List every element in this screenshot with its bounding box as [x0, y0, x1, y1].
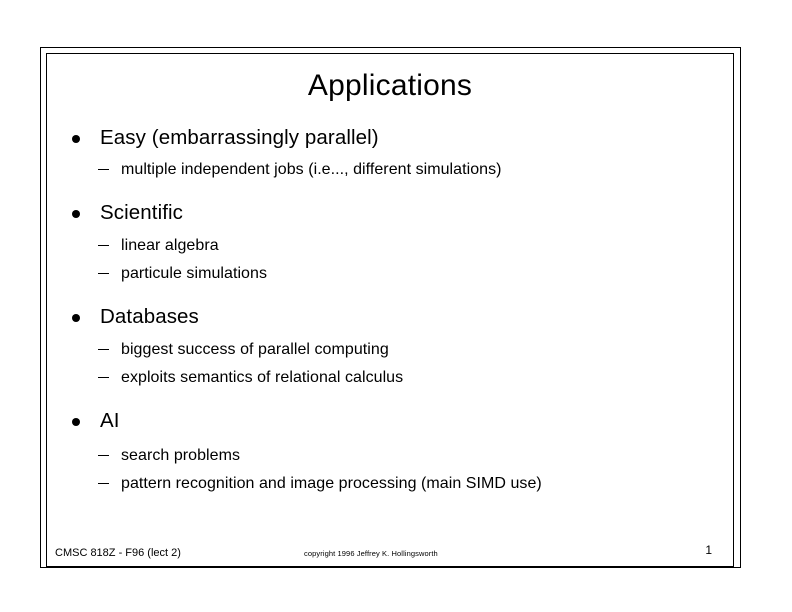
slide-page: Applications Easy (embarrassingly parall… — [0, 0, 792, 612]
bullet-label: AI — [100, 409, 120, 432]
slide-footer: CMSC 818Z - F96 (lect 2) copyright 1996 … — [46, 533, 734, 567]
bullet-dash-icon — [98, 245, 109, 246]
sub-bullet-label: exploits semantics of relational calculu… — [121, 369, 403, 386]
list-item: pattern recognition and image processing… — [46, 474, 734, 493]
sub-bullet-label: particule simulations — [121, 265, 267, 282]
page-title: Applications — [46, 69, 734, 103]
sub-bullet-label: multiple independent jobs (i.e..., diffe… — [121, 161, 502, 178]
bullet-dash-icon — [98, 483, 109, 484]
list-item: multiple independent jobs (i.e..., diffe… — [46, 160, 734, 179]
bullet-label: Easy (embarrassingly parallel) — [100, 126, 379, 149]
list-item: linear algebra — [46, 236, 734, 255]
bullet-dash-icon — [98, 349, 109, 350]
bullet-label: Databases — [100, 305, 199, 328]
sub-bullet-label: pattern recognition and image processing… — [121, 475, 542, 492]
slide-content: Applications Easy (embarrassingly parall… — [46, 53, 734, 567]
list-item: particule simulations — [46, 264, 734, 283]
page-number: 1 — [705, 543, 712, 557]
bullet-dash-icon — [98, 273, 109, 274]
bullet-dash-icon — [98, 377, 109, 378]
bullet-list: Easy (embarrassingly parallel) multiple … — [46, 126, 734, 493]
sub-list: linear algebra particule simulations — [46, 236, 734, 283]
bullet-dot-icon — [72, 314, 80, 322]
footer-copyright-label: copyright 1996 Jeffrey K. Hollingsworth — [304, 549, 438, 559]
list-item: search problems — [46, 446, 734, 465]
footer-course-label: CMSC 818Z - F96 (lect 2) — [55, 547, 181, 560]
list-item: Scientific — [46, 201, 734, 225]
list-item: Easy (embarrassingly parallel) — [46, 126, 734, 150]
sub-bullet-label: biggest success of parallel computing — [121, 341, 389, 358]
bullet-dash-icon — [98, 169, 109, 170]
list-item: exploits semantics of relational calculu… — [46, 368, 734, 387]
bullet-dot-icon — [72, 135, 80, 143]
sub-bullet-label: linear algebra — [121, 237, 219, 254]
sub-list: multiple independent jobs (i.e..., diffe… — [46, 160, 734, 179]
bullet-dash-icon — [98, 455, 109, 456]
bullet-dot-icon — [72, 210, 80, 218]
list-item: AI — [46, 409, 734, 433]
bullet-dot-icon — [72, 418, 80, 426]
list-item: biggest success of parallel computing — [46, 340, 734, 359]
list-item: Databases — [46, 305, 734, 329]
sub-bullet-label: search problems — [121, 447, 240, 464]
bullet-label: Scientific — [100, 201, 183, 224]
sub-list: biggest success of parallel computing ex… — [46, 340, 734, 387]
sub-list: search problems pattern recognition and … — [46, 446, 734, 493]
